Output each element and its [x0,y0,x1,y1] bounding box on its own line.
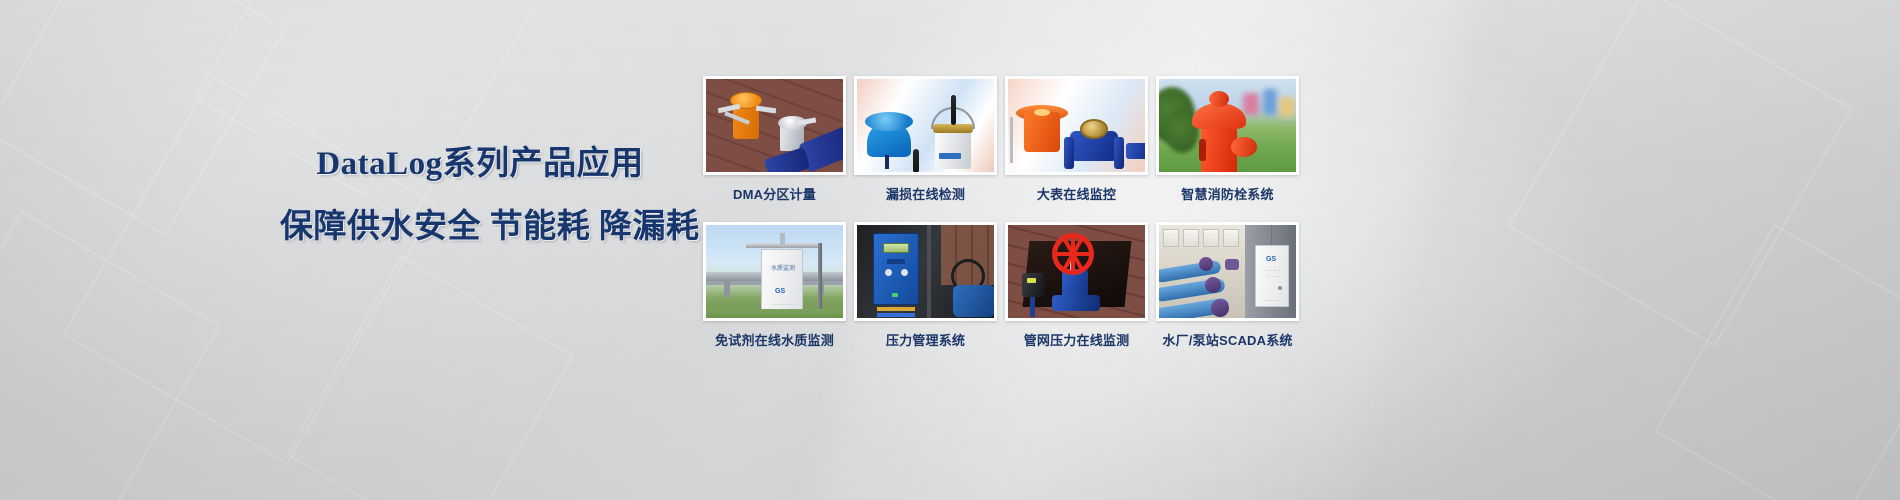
headline-line-1: DataLog系列产品应用 [280,148,680,181]
card-caption: 漏损在线检测 [854,184,997,203]
card-thumbnail [1156,76,1299,175]
scada-pump-station-photo: GS — — — — — — — — — — — [1159,225,1296,318]
dma-metering-photo [706,79,843,172]
card-thumbnail [854,222,997,321]
card-caption: 管网压力在线监测 [1005,330,1148,349]
leak-detection-logger-photo [857,79,994,172]
product-card[interactable]: GS — — — — — — — — — — — 水厂/泵站SCADA系统 [1156,222,1299,364]
card-thumbnail [1005,76,1148,175]
smart-hydrant-photo [1159,79,1296,172]
pressure-management-cabinet-photo [857,225,994,318]
card-caption: DMA分区计量 [703,184,846,203]
large-meter-monitor-photo [1008,79,1145,172]
product-card[interactable]: 大表在线监控 [1005,76,1148,218]
card-thumbnail: GS — — — — — — — — — — — [1156,222,1299,321]
product-card[interactable]: 漏损在线检测 [854,76,997,218]
product-card[interactable]: 压力管理系统 [854,222,997,364]
card-caption: 大表在线监控 [1005,184,1148,203]
product-card[interactable]: 水质监测 GS — — — — — 免试剂在线水质监测 [703,222,846,364]
card-caption: 智慧消防栓系统 [1156,184,1299,203]
headline-line-2: 保障供水安全 节能耗 降漏耗 [280,211,680,244]
station-sign-text: 水质监测 [767,266,799,273]
pipe-pressure-valve-photo [1008,225,1145,318]
product-card-grid: DMA分区计量 漏损在线检测 [703,76,1299,364]
card-caption: 水厂/泵站SCADA系统 [1156,330,1299,349]
product-card[interactable]: DMA分区计量 [703,76,846,218]
promo-banner: DataLog系列产品应用 保障供水安全 节能耗 降漏耗 D [0,0,1900,500]
water-quality-station-photo: 水质监测 GS — — — — — [706,225,843,318]
card-caption: 压力管理系统 [854,330,997,349]
product-card[interactable]: 智慧消防栓系统 [1156,76,1299,218]
card-thumbnail: 水质监测 GS — — — — — [703,222,846,321]
panel-brand-logo: GS [1266,256,1276,263]
product-card[interactable]: 管网压力在线监测 [1005,222,1148,364]
card-thumbnail [854,76,997,175]
card-thumbnail [703,76,846,175]
card-thumbnail [1005,222,1148,321]
card-caption: 免试剂在线水质监测 [703,330,846,349]
headline-block: DataLog系列产品应用 保障供水安全 节能耗 降漏耗 [280,148,680,244]
brand-logo-mark: GS [775,288,785,295]
